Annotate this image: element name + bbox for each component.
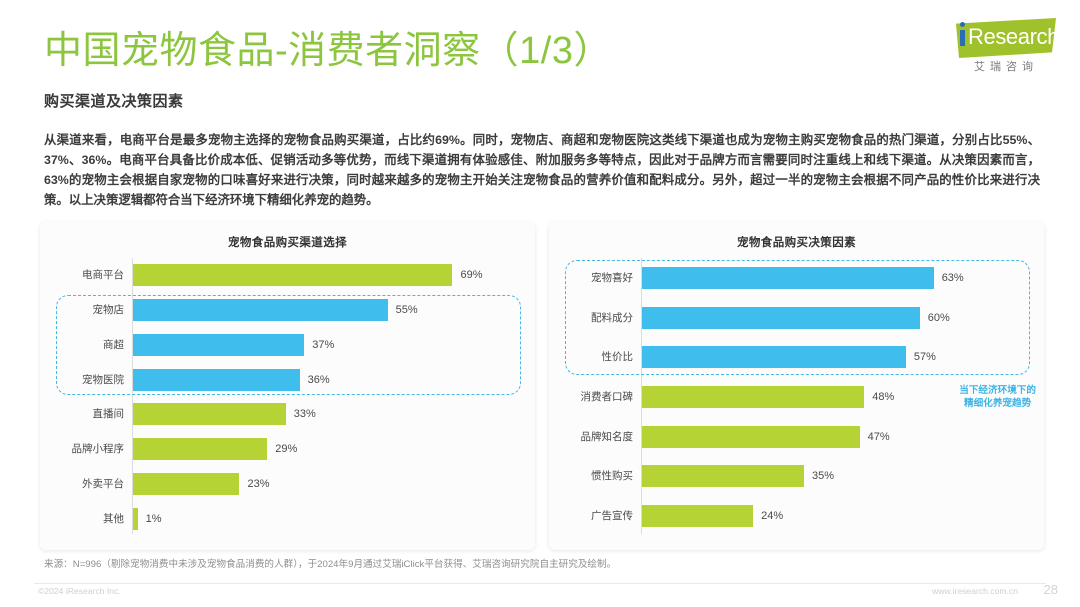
bar-row: 宠物喜好63% [549, 267, 1044, 289]
bar-row: 品牌小程序29% [40, 438, 535, 460]
bar-category-label: 商超 [40, 339, 124, 351]
chart-card-channel: 宠物食品购买渠道选择 电商平台69%宠物店55%商超37%宠物医院36%直播间3… [40, 222, 535, 550]
chart-plot-channel: 电商平台69%宠物店55%商超37%宠物医院36%直播间33%品牌小程序29%外… [40, 258, 535, 536]
bar [133, 403, 286, 425]
bar [133, 508, 138, 530]
logo-chinese-name: 艾瑞咨询 [958, 58, 1054, 74]
bar-category-label: 惯性购买 [549, 470, 633, 482]
bar-row: 直播间33% [40, 403, 535, 425]
bar-category-label: 消费者口碑 [549, 391, 633, 403]
bar-row: 性价比57% [549, 346, 1044, 368]
bar [642, 426, 860, 448]
bar-value-label: 48% [872, 391, 894, 403]
bar-row: 宠物店55% [40, 299, 535, 321]
logo-i-stem-icon [960, 30, 965, 46]
bar-category-label: 电商平台 [40, 269, 124, 281]
page-number: 28 [1044, 582, 1058, 597]
bar [133, 264, 452, 286]
bar-row: 电商平台69% [40, 264, 535, 286]
bar-category-label: 广告宣传 [549, 510, 633, 522]
annotation-line-2: 精细化养宠趋势 [959, 397, 1036, 410]
chart-title-decision: 宠物食品购买决策因素 [549, 234, 1044, 250]
bar-value-label: 1% [146, 513, 162, 525]
bar-category-label: 宠物医院 [40, 374, 124, 386]
chart-plot-decision: 宠物喜好63%配料成分60%性价比57%消费者口碑48%品牌知名度47%惯性购买… [549, 258, 1044, 536]
bar-value-label: 69% [460, 269, 482, 281]
charts-container: 宠物食品购买渠道选择 电商平台69%宠物店55%商超37%宠物医院36%直播间3… [40, 222, 1044, 550]
bar [642, 346, 906, 368]
bar [133, 438, 267, 460]
iresearch-logo: Research 艾瑞咨询 [950, 18, 1058, 80]
bar-category-label: 外卖平台 [40, 478, 124, 490]
bar-row: 宠物医院36% [40, 369, 535, 391]
bar-value-label: 24% [761, 510, 783, 522]
bar-category-label: 宠物店 [40, 304, 124, 316]
bar [133, 334, 304, 356]
bar-value-label: 36% [308, 374, 330, 386]
bar-category-label: 其他 [40, 513, 124, 525]
bar-value-label: 60% [928, 312, 950, 324]
bar-value-label: 57% [914, 351, 936, 363]
bar [642, 386, 864, 408]
bar-row: 品牌知名度47% [549, 426, 1044, 448]
bar [133, 299, 388, 321]
bar-row: 其他1% [40, 508, 535, 530]
bar-row: 外卖平台23% [40, 473, 535, 495]
bar-category-label: 性价比 [549, 351, 633, 363]
source-note: 来源：N=996（剔除宠物消费中未涉及宠物食品消费的人群），于2024年9月通过… [44, 556, 616, 570]
slide-header: 中国宠物食品-消费者洞察（1/3） 购买渠道及决策因素 Research 艾瑞咨… [0, 0, 1080, 120]
bar [642, 307, 920, 329]
bar [642, 505, 753, 527]
bar [642, 465, 804, 487]
bar-value-label: 33% [294, 408, 316, 420]
bar-value-label: 47% [868, 431, 890, 443]
page-subtitle: 购买渠道及决策因素 [44, 90, 184, 111]
intro-paragraph: 从渠道来看，电商平台是最多宠物主选择的宠物食品购买渠道，占比约69%。同时，宠物… [44, 130, 1040, 210]
bar-row: 广告宣传24% [549, 505, 1044, 527]
chart-card-decision: 宠物食品购买决策因素 宠物喜好63%配料成分60%性价比57%消费者口碑48%品… [549, 222, 1044, 550]
bar-value-label: 37% [312, 339, 334, 351]
bar [133, 369, 300, 391]
footer-copyright: ©2024 iResearch Inc. [38, 586, 121, 596]
bar-category-label: 品牌知名度 [549, 431, 633, 443]
bar-row: 商超37% [40, 334, 535, 356]
bar-category-label: 品牌小程序 [40, 443, 124, 455]
chart-annotation: 当下经济环境下的精细化养宠趋势 [959, 384, 1036, 410]
bar [642, 267, 934, 289]
logo-i-dot-icon [960, 22, 965, 27]
bar-value-label: 23% [247, 478, 269, 490]
logo-wordmark: Research [968, 24, 1059, 50]
footer-url: www.iresearch.com.cn [932, 586, 1018, 596]
footer-divider [34, 583, 1046, 584]
page-title: 中国宠物食品-消费者洞察（1/3） [44, 28, 612, 74]
bar-category-label: 直播间 [40, 408, 124, 420]
annotation-line-1: 当下经济环境下的 [959, 384, 1036, 397]
bar-row: 配料成分60% [549, 307, 1044, 329]
bar-row: 惯性购买35% [549, 465, 1044, 487]
bar-value-label: 35% [812, 470, 834, 482]
bar [133, 473, 239, 495]
bar-value-label: 55% [396, 304, 418, 316]
chart-title-channel: 宠物食品购买渠道选择 [40, 234, 535, 250]
bar-value-label: 63% [942, 272, 964, 284]
bar-value-label: 29% [275, 443, 297, 455]
bar-category-label: 宠物喜好 [549, 272, 633, 284]
bar-category-label: 配料成分 [549, 312, 633, 324]
